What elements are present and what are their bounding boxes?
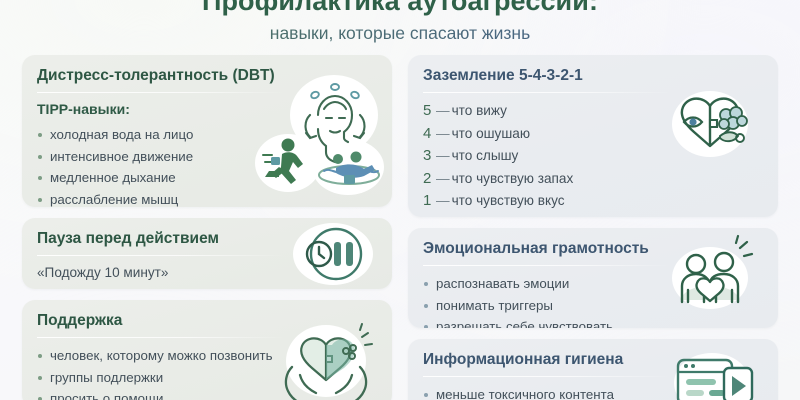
card-support[interactable]: Поддержка человек, которому можко позвон… bbox=[22, 300, 392, 400]
step-text: что слышу bbox=[452, 148, 519, 163]
list-item: 4—что ошушаю bbox=[423, 123, 763, 146]
list-item: интенсивное движение bbox=[37, 146, 377, 168]
heading-divider bbox=[423, 92, 671, 93]
card-heading: Поддержка bbox=[37, 311, 377, 331]
card-heading: Пауза перед действием bbox=[37, 229, 377, 249]
bullet-list: человек, которому можко позвонить группы… bbox=[37, 345, 377, 400]
list-item: просить о помощи bbox=[37, 388, 377, 400]
heading-divider bbox=[423, 376, 671, 377]
step-number: 3 bbox=[423, 145, 434, 168]
page-header: Профилактика аутоагрессии: навыки, котор… bbox=[0, 0, 800, 44]
bullet-list: меньше токсичного контента bbox=[423, 384, 763, 400]
list-item: распознавать эмоции bbox=[423, 273, 763, 295]
step-number: 4 bbox=[423, 123, 434, 146]
step-number: 5 bbox=[423, 100, 434, 123]
step-dash: — bbox=[436, 148, 450, 163]
card-emotional-literacy[interactable]: Эмоциональная грамотность распознавать э… bbox=[408, 228, 778, 328]
heading-divider bbox=[37, 255, 285, 256]
card-distress-tolerance[interactable]: Дистресс-толерантность (DBT) TIPP-навыки… bbox=[22, 55, 392, 207]
list-item: медленное дыхание bbox=[37, 167, 377, 189]
list-item: 1—что чувствую вкус bbox=[423, 190, 763, 213]
step-number: 1 bbox=[423, 190, 434, 213]
right-column: Заземление 5-4-3-2-1 5—что вижу 4—что ош… bbox=[408, 55, 778, 400]
card-pause-before-action[interactable]: Пауза перед действием «Подожду 10 минут» bbox=[22, 218, 392, 289]
card-grounding-54321[interactable]: Заземление 5-4-3-2-1 5—что вижу 4—что ош… bbox=[408, 55, 778, 217]
card-heading: Информационная гигиена bbox=[423, 350, 763, 370]
heading-divider bbox=[37, 337, 285, 338]
list-item: холодная вода на лицо bbox=[37, 124, 377, 146]
bullet-list: распознавать эмоции понимать триггеры ра… bbox=[423, 273, 763, 328]
list-item: понимать триггеры bbox=[423, 295, 763, 317]
list-item: расслабление мышц bbox=[37, 189, 377, 208]
step-text: что чувствую запах bbox=[452, 171, 574, 186]
left-column: Дистресс-толерантность (DBT) TIPP-навыки… bbox=[22, 55, 392, 400]
step-text: что вижу bbox=[452, 103, 507, 118]
list-item: разрешать себе чувствовать bbox=[423, 316, 763, 328]
heading-divider bbox=[37, 92, 285, 93]
list-item: человек, которому можко позвонить bbox=[37, 345, 377, 367]
card-information-hygiene[interactable]: Информационная гигиена меньше токсичного… bbox=[408, 339, 778, 400]
page-title: Профилактика аутоагрессии: bbox=[0, 0, 800, 18]
step-dash: — bbox=[436, 193, 450, 208]
step-number: 2 bbox=[423, 168, 434, 191]
step-dash: — bbox=[436, 171, 450, 186]
page-subtitle: навыки, которые спасают жизнь bbox=[0, 22, 800, 44]
step-dash: — bbox=[436, 103, 450, 118]
card-heading: Эмоциональная грамотность bbox=[423, 239, 763, 259]
tipp-skills-label: TIPP-навыки: bbox=[37, 100, 377, 118]
list-item: группы подлержки bbox=[37, 367, 377, 389]
step-dash: — bbox=[436, 126, 450, 141]
pause-quote: «Подожду 10 минут» bbox=[37, 263, 377, 283]
grounding-steps-list: 5—что вижу 4—что ошушаю 3—что слышу 2—чт… bbox=[423, 100, 763, 213]
step-text: что чувствую вкус bbox=[452, 193, 565, 208]
list-item: меньше токсичного контента bbox=[423, 384, 763, 400]
list-item: 2—что чувствую запах bbox=[423, 168, 763, 191]
card-heading: Заземление 5-4-3-2-1 bbox=[423, 66, 763, 86]
list-item: 3—что слышу bbox=[423, 145, 763, 168]
card-heading: Дистресс-толерантность (DBT) bbox=[37, 66, 377, 86]
infographic-page: Профилактика аутоагрессии: навыки, котор… bbox=[0, 0, 800, 400]
step-text: что ошушаю bbox=[452, 126, 530, 141]
heading-divider bbox=[423, 265, 671, 266]
bullet-list: холодная вода на лицо интенсивное движен… bbox=[37, 124, 377, 207]
list-item: 5—что вижу bbox=[423, 100, 763, 123]
